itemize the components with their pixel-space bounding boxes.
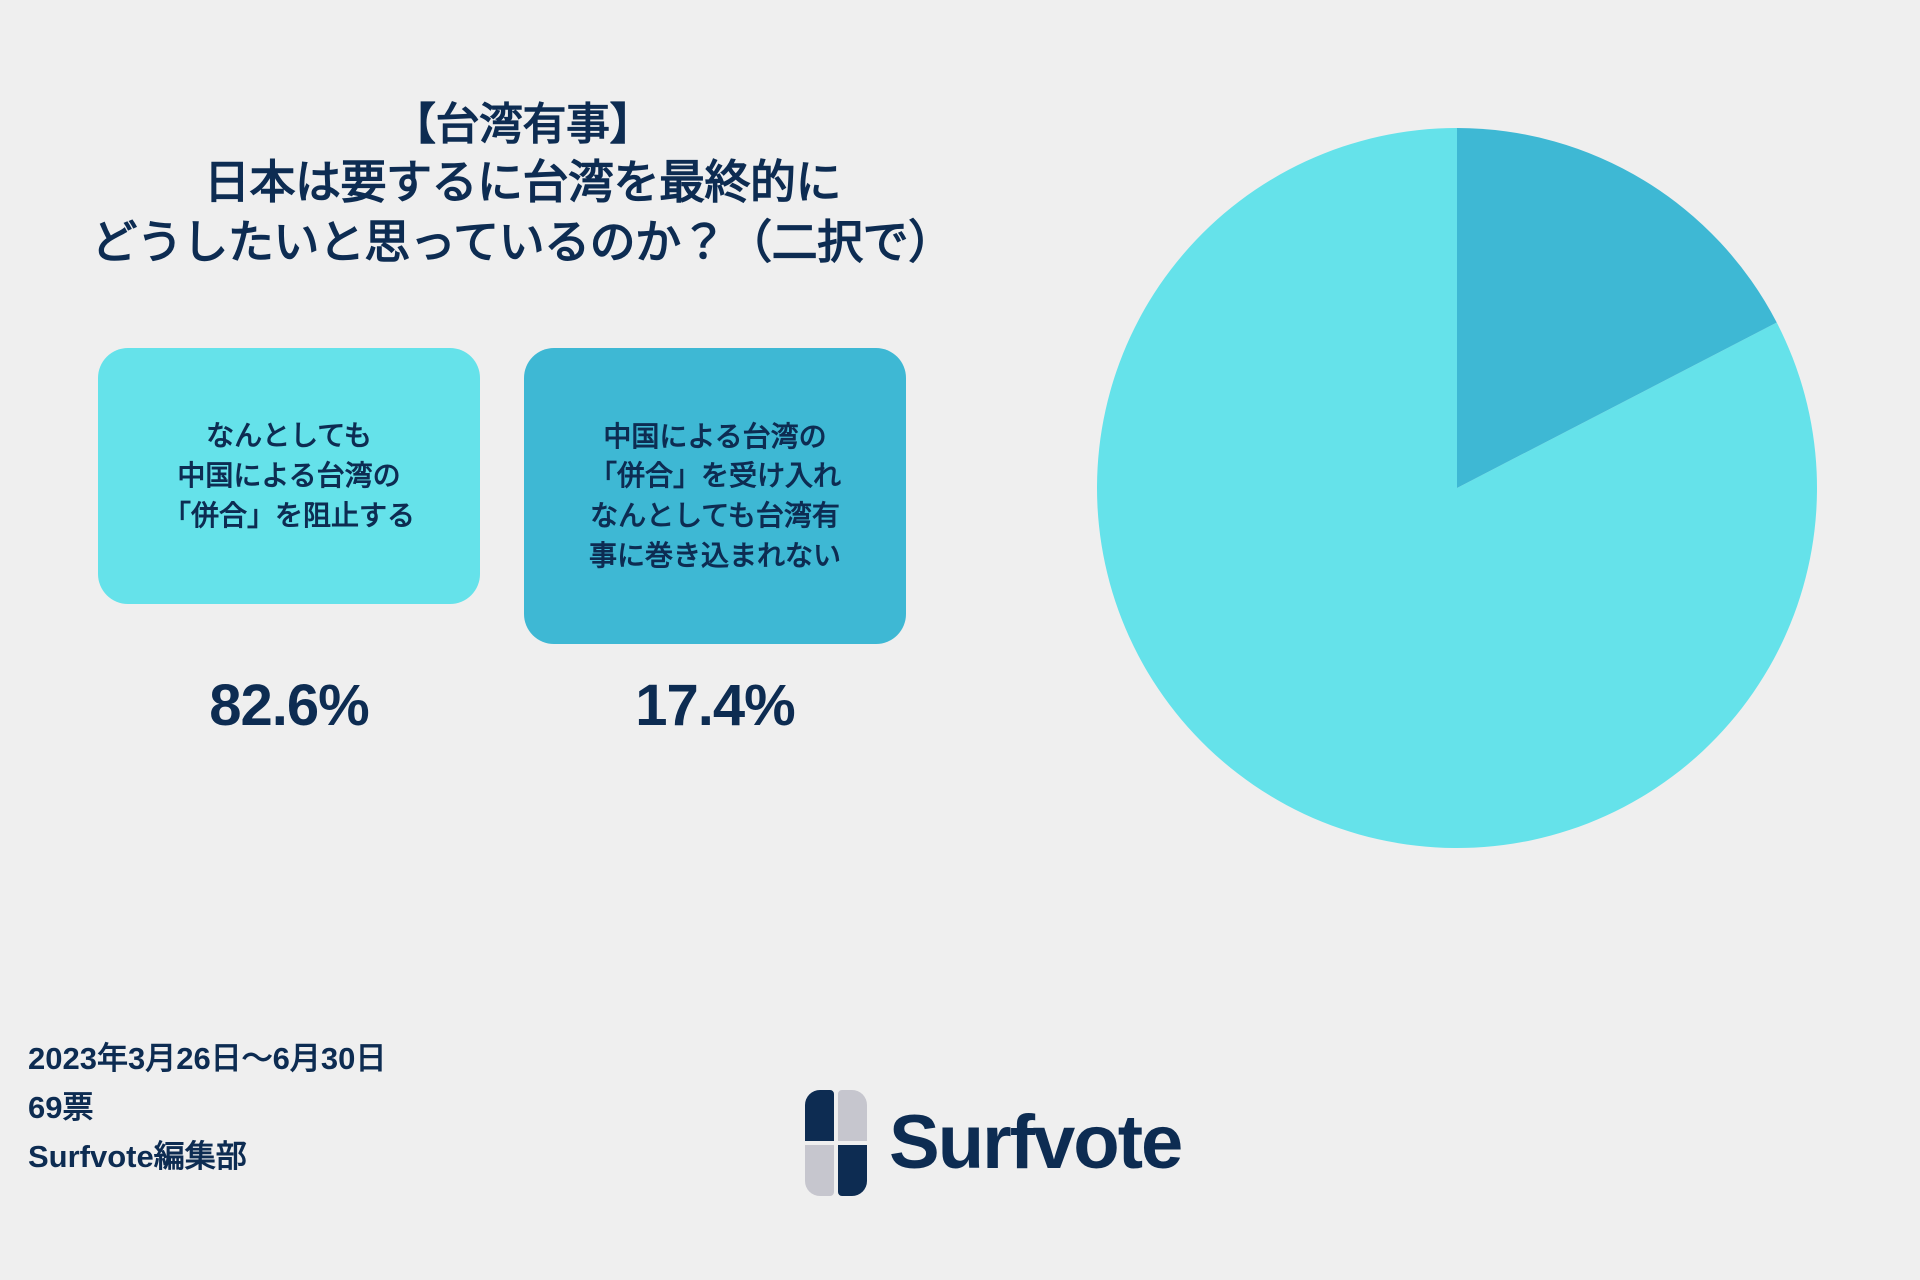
legend-option-2-line-1: 中国による台湾の bbox=[589, 417, 841, 457]
surfvote-logo: Surfvote bbox=[805, 1090, 1181, 1196]
pie-slice-group bbox=[1097, 128, 1817, 848]
title-line-3: どうしたいと思っているのか？（二択で） bbox=[0, 213, 1045, 273]
surfvote-logo-mark-icon bbox=[805, 1090, 867, 1196]
percentage-option-2: 17.4% bbox=[524, 672, 906, 739]
legend-card-option-2: 中国による台湾の 「併合」を受け入れ なんとしても台湾有 事に巻き込まれない bbox=[524, 348, 906, 644]
title-line-1: 【台湾有事】 bbox=[0, 96, 1045, 153]
poll-period: 2023年3月26日〜6月30日 bbox=[28, 1035, 386, 1084]
surfvote-wordmark: Surfvote bbox=[889, 1105, 1181, 1181]
footer-meta: 2023年3月26日〜6月30日 69票 Surfvote編集部 bbox=[28, 1035, 386, 1182]
pie-chart bbox=[1097, 128, 1817, 848]
legend-option-2-line-4: 事に巻き込まれない bbox=[589, 536, 841, 576]
page-title: 【台湾有事】 日本は要するに台湾を最終的に どうしたいと思っているのか？（二択で… bbox=[0, 96, 1045, 273]
logo-quadrant-bottom-right bbox=[838, 1145, 867, 1196]
pie-chart-svg bbox=[1097, 128, 1817, 848]
legend-card-option-1: なんとしても 中国による台湾の 「併合」を阻止する bbox=[98, 348, 480, 604]
legend-option-1-line-1: なんとしても bbox=[163, 416, 415, 456]
title-line-2: 日本は要するに台湾を最終的に bbox=[0, 153, 1045, 213]
percentage-option-1: 82.6% bbox=[98, 672, 480, 739]
legend-option-1-line-2: 中国による台湾の bbox=[163, 456, 415, 496]
legend-option-2-line-2: 「併合」を受け入れ bbox=[589, 456, 841, 496]
poll-author: Surfvote編集部 bbox=[28, 1133, 386, 1182]
logo-quadrant-top-right bbox=[838, 1090, 867, 1141]
legend-option-2-line-3: なんとしても台湾有 bbox=[589, 496, 841, 536]
legend-option-1-line-3: 「併合」を阻止する bbox=[163, 496, 415, 536]
logo-quadrant-bottom-left bbox=[805, 1145, 834, 1196]
logo-quadrant-top-left bbox=[805, 1090, 834, 1141]
poll-result-graphic: 【台湾有事】 日本は要するに台湾を最終的に どうしたいと思っているのか？（二択で… bbox=[0, 0, 1920, 1280]
legend-card-option-1-text: なんとしても 中国による台湾の 「併合」を阻止する bbox=[163, 416, 415, 535]
vote-count: 69票 bbox=[28, 1084, 386, 1133]
legend-card-option-2-text: 中国による台湾の 「併合」を受け入れ なんとしても台湾有 事に巻き込まれない bbox=[589, 417, 841, 576]
